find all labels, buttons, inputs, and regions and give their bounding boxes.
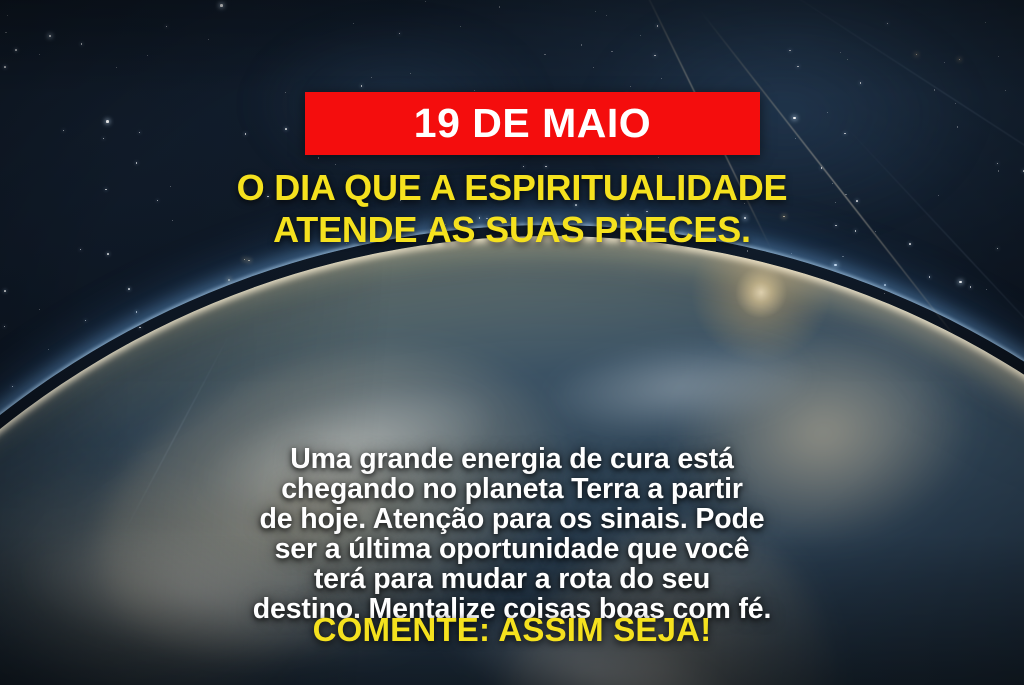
headline-line-2: ATENDE AS SUAS PRECES.: [24, 209, 1000, 251]
headline-line-1: O DIA QUE A ESPIRITUALIDADE: [24, 167, 1000, 209]
poster-canvas: 19 DE MAIO O DIA QUE A ESPIRITUALIDADE A…: [0, 0, 1024, 685]
date-banner-label: 19 DE MAIO: [414, 103, 651, 144]
date-banner: 19 DE MAIO: [305, 92, 760, 155]
body-line-4: ser a última oportunidade que você: [18, 534, 1006, 564]
poster-content: 19 DE MAIO O DIA QUE A ESPIRITUALIDADE A…: [0, 0, 1024, 685]
body-line-5: terá para mudar a rota do seu: [18, 564, 1006, 594]
body-line-3: de hoje. Atenção para os sinais. Pode: [18, 504, 1006, 534]
headline: O DIA QUE A ESPIRITUALIDADE ATENDE AS SU…: [0, 167, 1024, 251]
call-to-action-text: COMENTE: ASSIM SEJA!: [0, 612, 1024, 648]
body-line-2: chegando no planeta Terra a partir: [18, 474, 1006, 504]
body-line-1: Uma grande energia de cura está: [18, 444, 1006, 474]
body-paragraph: Uma grande energia de cura está chegando…: [0, 444, 1024, 624]
